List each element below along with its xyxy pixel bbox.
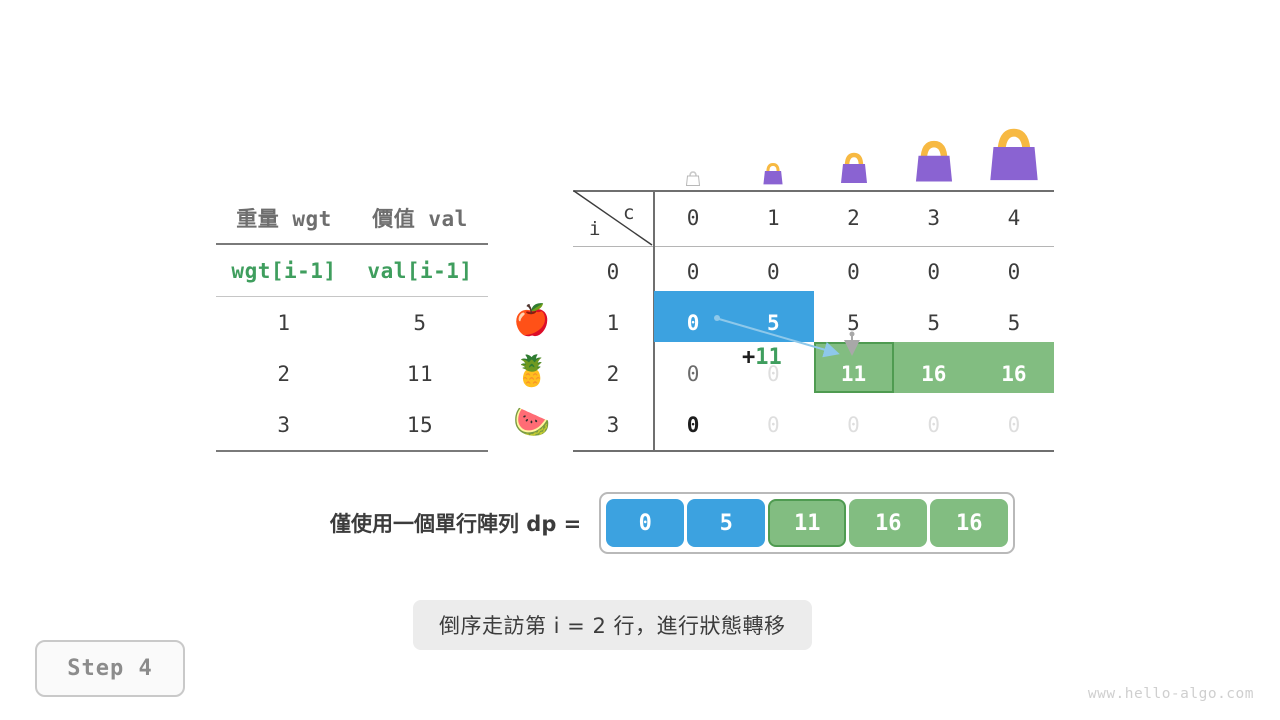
bag-icon (982, 128, 1046, 188)
val-value: 15 (352, 413, 488, 437)
dp-cell: 5 (894, 297, 974, 348)
dp-array-cell[interactable]: 16 (930, 499, 1008, 547)
dp-cell: 0 (813, 399, 893, 450)
wgt-value: 2 (216, 362, 352, 386)
dp-cell: 0 (974, 246, 1054, 297)
dp-row-cells: 0 5 5 5 5 (653, 297, 1054, 348)
dp-row-cells: 0 0 11 16 16 (653, 348, 1054, 399)
table-row: 0 0 0 0 0 0 (573, 246, 1054, 297)
table-row: 1 0 5 5 5 5 (573, 297, 1054, 348)
dp-array-cell[interactable]: 5 (687, 499, 765, 547)
dp-cell: 5 (813, 297, 893, 348)
val-value: 11 (352, 362, 488, 386)
watermelon-icon: 🍉 (508, 397, 556, 448)
bag-icon-1 (733, 120, 813, 188)
dp-array-cell[interactable]: 16 (849, 499, 927, 547)
table-row: 2 11 (216, 348, 488, 399)
dp-cell: 16 (974, 348, 1054, 399)
dp-cell: 0 (894, 246, 974, 297)
increment-amount: 11 (755, 345, 782, 370)
dp-array-cell[interactable]: 11 (768, 499, 846, 547)
dp-cell: 11 (813, 348, 893, 399)
capacity-label-1: 1 (733, 190, 813, 246)
plus-sign: + (742, 345, 755, 370)
row-index-label: 1 (573, 297, 653, 348)
bag-icon (908, 139, 960, 188)
wgt-table-header-row: 重量 wgt 價值 val (216, 192, 488, 243)
table-row: 3 0 0 0 0 0 (573, 399, 1054, 450)
bag-icon-0 (653, 120, 733, 188)
step-caption: 倒序走訪第 i = 2 行，進行狀態轉移 (413, 600, 812, 650)
row-index-label: 3 (573, 399, 653, 450)
table-row: 1 5 (216, 297, 488, 348)
dp-capacity-labels: 0 1 2 3 4 (653, 190, 1054, 246)
wgt-table-subheader-val: val[i-1] (352, 259, 488, 283)
capacity-label-2: 2 (813, 190, 893, 246)
dp-array-cell[interactable]: 0 (606, 499, 684, 547)
bag-icon (758, 160, 788, 188)
corner-label-c: c (623, 202, 634, 224)
dp-cell: 0 (733, 399, 813, 450)
capacity-label-0: 0 (653, 190, 733, 246)
wgt-value: 3 (216, 413, 352, 437)
dp-row-cells: 0 0 0 0 0 (653, 399, 1054, 450)
bag-icon-2 (813, 120, 893, 188)
bag-icon-3 (894, 120, 974, 188)
diagonal-divider-icon (573, 190, 653, 246)
bag-icon-4 (974, 120, 1054, 188)
wgt-value: 1 (216, 311, 352, 335)
divider-bottom (216, 450, 488, 452)
capacity-label-3: 3 (894, 190, 974, 246)
dp-cell: 0 (653, 246, 733, 297)
table-row: 3 15 (216, 399, 488, 450)
capacity-label-4: 4 (974, 190, 1054, 246)
row-index-label: 0 (573, 246, 653, 297)
dp-cell: 0 (974, 399, 1054, 450)
row-index-label: 2 (573, 348, 653, 399)
dp-row-cells: 0 0 0 0 0 (653, 246, 1054, 297)
bag-icon (834, 150, 874, 188)
val-value: 5 (352, 311, 488, 335)
dp-matrix-table: c i 0 1 2 3 4 0 0 0 0 0 0 1 0 5 5 5 5 (573, 190, 1054, 450)
apple-icon: 🍎 (508, 295, 556, 346)
dp-cell: 16 (894, 348, 974, 399)
dp-cell: 0 (653, 399, 733, 450)
dp-array-section: 僅使用一個單行陣列 dp = 0 5 11 16 16 (330, 492, 1015, 554)
dp-cell: 0 (813, 246, 893, 297)
dp-cell: 0 (653, 297, 733, 348)
dp-cell: 0 (653, 348, 733, 399)
dp-cell: 0 (733, 246, 813, 297)
dp-cell: 0 (894, 399, 974, 450)
dp-cell: 5 (733, 297, 813, 348)
corner-label-i: i (589, 218, 600, 240)
dp-array-label: 僅使用一個單行陣列 dp = (330, 508, 581, 538)
pineapple-icon: 🍍 (508, 346, 556, 397)
wgt-table-header-val: 價值 val (352, 203, 488, 233)
wgt-table-subheader-row: wgt[i-1] val[i-1] (216, 245, 488, 296)
bag-icon (683, 169, 703, 188)
capacity-bag-icons (653, 120, 1054, 188)
wgt-table-subheader-wgt: wgt[i-1] (216, 259, 352, 283)
weight-value-table: 重量 wgt 價值 val wgt[i-1] val[i-1] 1 5 2 11… (216, 192, 488, 452)
dp-array-container: 0 5 11 16 16 (599, 492, 1015, 554)
table-row: 2 0 0 11 16 16 (573, 348, 1054, 399)
corner-header-cell: c i (573, 190, 653, 246)
step-badge: Step 4 (35, 640, 185, 697)
value-increment-annotation: +11 (742, 345, 782, 370)
dp-cell: 5 (974, 297, 1054, 348)
item-icon-column: 🍎 🍍 🍉 (508, 295, 556, 448)
wgt-table-header-wgt: 重量 wgt (216, 203, 352, 233)
table-rule-bottom (573, 450, 1054, 452)
watermark: www.hello-algo.com (1088, 686, 1254, 702)
